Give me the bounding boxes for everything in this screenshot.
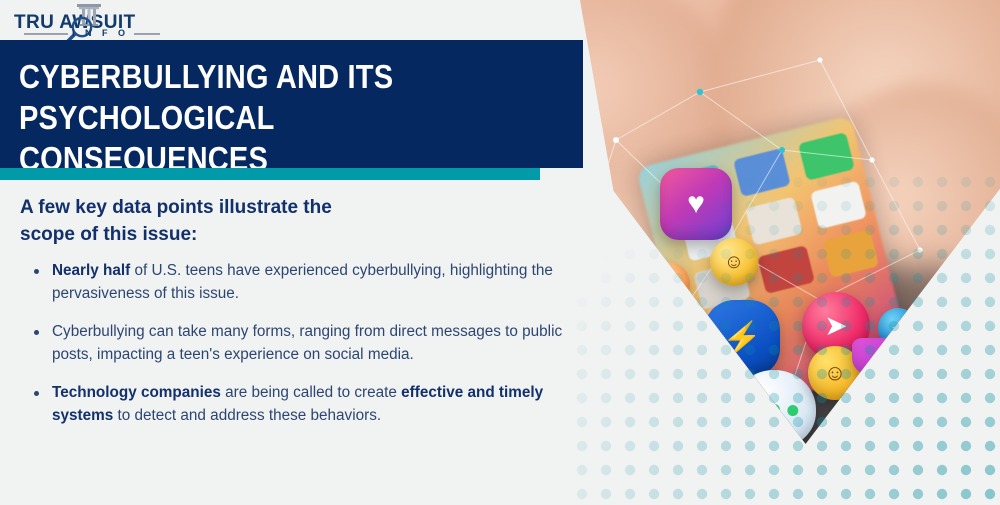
magenta-tag-icon xyxy=(852,338,904,378)
teal-accent-bar xyxy=(0,168,540,180)
emoji-heart-eyes-glyph: ☻ xyxy=(659,275,678,293)
page-title: CYBERBULLYING AND ITS PSYCHOLOGICAL CONS… xyxy=(19,56,507,179)
whatsapp-phone-icon: ✆ xyxy=(572,288,654,370)
list-item-text-1: are being called to create xyxy=(221,384,401,401)
instagram-heart-icon: ♥ xyxy=(660,168,732,240)
twitter-glyph: ✦ xyxy=(891,320,905,337)
messenger-glyph: ⚡ xyxy=(722,322,762,354)
star-rating-icon: ★ xyxy=(738,424,798,460)
youtube-play-glyph: ▶ xyxy=(698,418,713,437)
list-item: Nearly half of U.S. teens have experienc… xyxy=(22,260,567,305)
whatsapp-glyph: ✆ xyxy=(598,311,628,347)
instagram-heart-glyph: ♥ xyxy=(687,189,705,219)
site-logo[interactable]: TRU AWSUIT I N F O xyxy=(14,4,162,42)
list-item-text-1: Cyberbullying can take many forms, rangi… xyxy=(52,323,562,363)
title-banner: CYBERBULLYING AND ITS PSYCHOLOGICAL CONS… xyxy=(0,40,583,168)
list-item-bold-1: Nearly half xyxy=(52,262,130,279)
messenger-bolt-icon: ⚡ xyxy=(704,300,780,376)
logo-tagline: I N F O xyxy=(72,28,129,38)
star-glyph: ★ xyxy=(744,427,792,460)
subtitle: A few key data points illustrate the sco… xyxy=(20,194,450,248)
network-lines xyxy=(520,0,1000,460)
telegram-glyph: ➤ xyxy=(824,312,847,340)
subtitle-line-1: A few key data points illustrate the xyxy=(20,197,332,218)
page-title-line-2: PSYCHOLOGICAL CONSEQUENCES xyxy=(19,99,274,177)
key-points-list: Nearly half of U.S. teens have experienc… xyxy=(22,260,567,443)
list-item: Cyberbullying can take many forms, rangi… xyxy=(22,321,567,366)
list-item-bold-1: Technology companies xyxy=(52,384,221,401)
emoji-laugh-glyph: ☺ xyxy=(824,362,846,384)
page-title-line-1: CYBERBULLYING AND ITS xyxy=(19,58,393,95)
emoji-smile-glyph: ☺ xyxy=(724,252,744,272)
list-item-text-2: to detect and address these behaviors. xyxy=(113,407,381,424)
list-item: Technology companies are being called to… xyxy=(22,382,567,427)
subtitle-line-2: scope of this issue: xyxy=(20,224,197,245)
emoji-smile-icon: ☺ xyxy=(710,238,758,286)
emoji-heart-eyes-icon: ☻ xyxy=(646,262,690,306)
bluetooth-circle-icon: ⬤ xyxy=(652,378,702,428)
chat-bubble-icon xyxy=(732,370,816,448)
youtube-play-icon: ▶ xyxy=(680,402,730,452)
twitter-bird-icon: ✦ xyxy=(878,308,918,348)
logo-rule-left xyxy=(24,33,68,35)
hero-photo: Mec ♥ ✆ ⚡ ➤ ✦ xyxy=(520,0,1000,460)
logo-rule-right xyxy=(134,33,160,35)
